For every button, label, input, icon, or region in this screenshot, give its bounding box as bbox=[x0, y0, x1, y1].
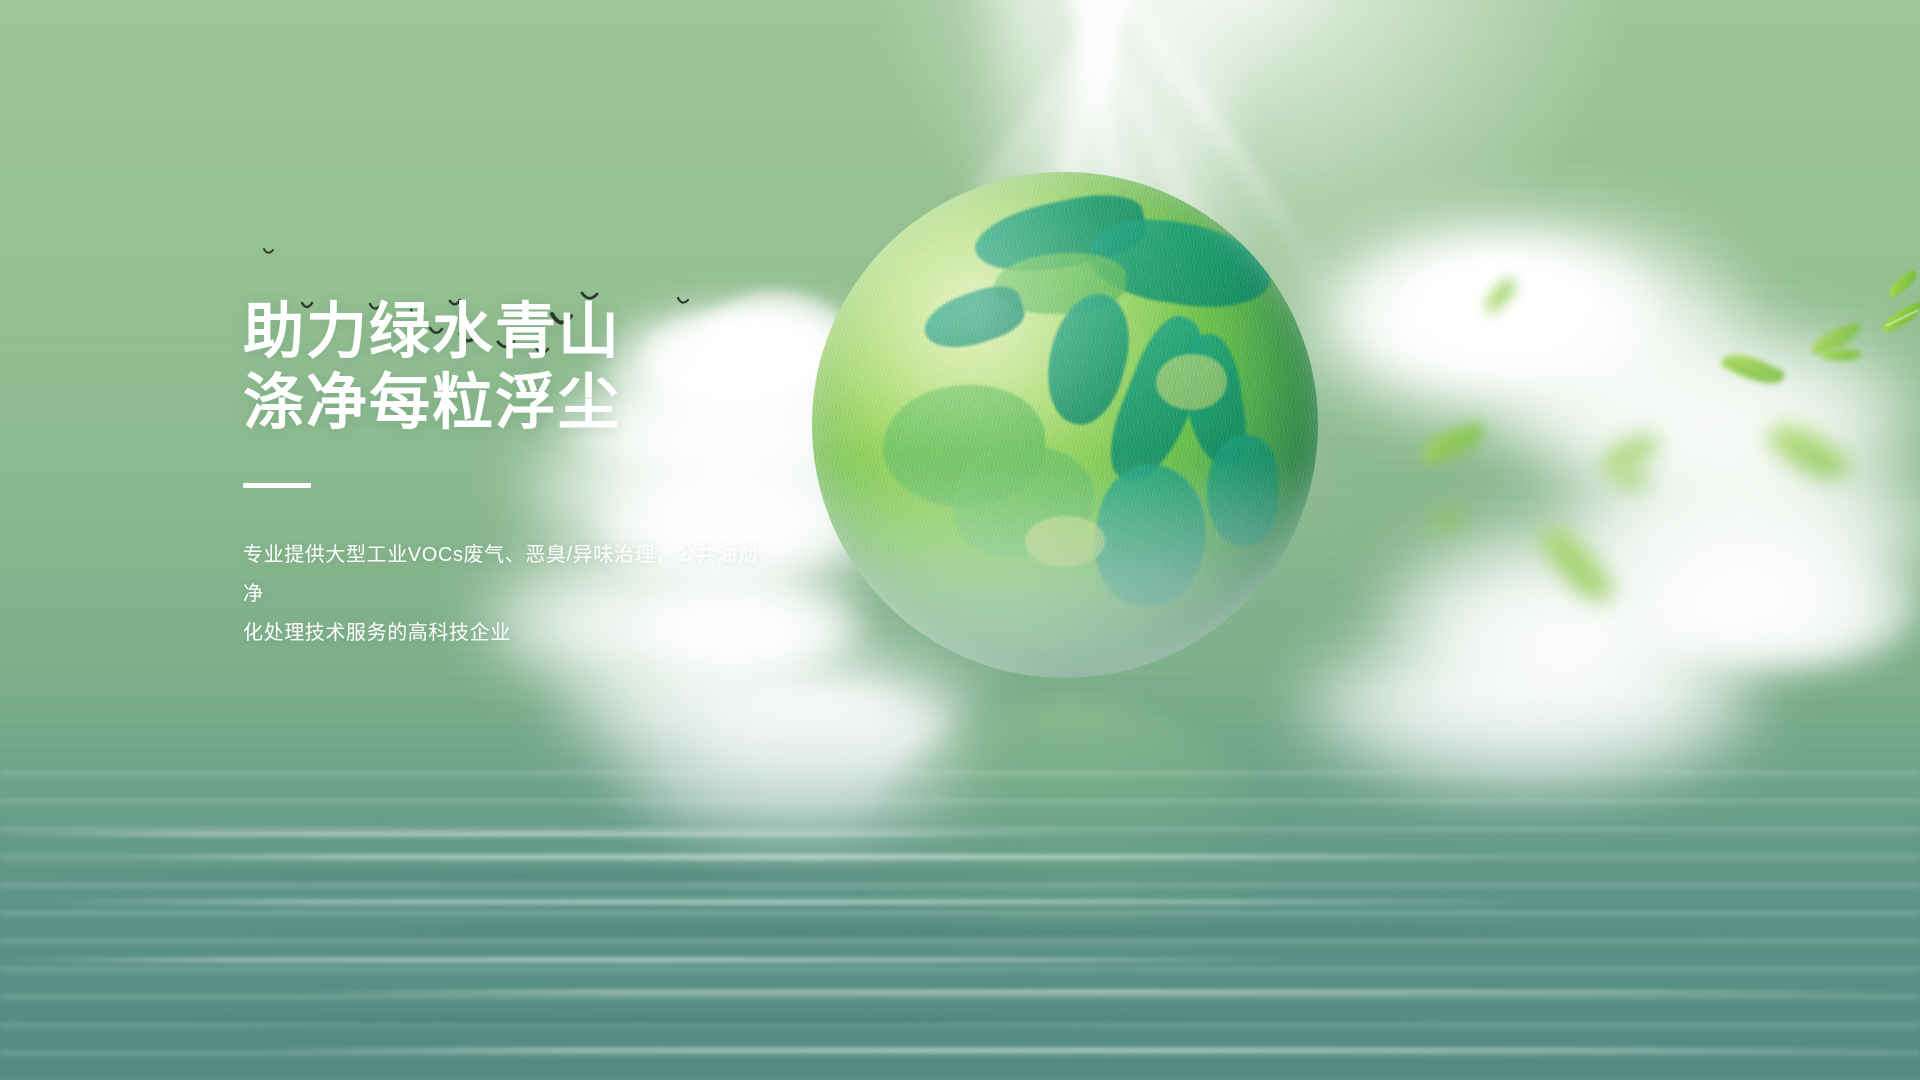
hero-subtitle: 专业提供大型工业VOCs废气、恶臭/异味治理，公共油烟净 化处理技术服务的高科技… bbox=[243, 536, 773, 653]
water-ripple bbox=[40, 900, 1540, 904]
water-ripples-texture bbox=[0, 760, 1920, 1080]
earth-globe bbox=[812, 172, 1318, 678]
water-ripple bbox=[260, 1048, 1920, 1052]
subtitle-line-2: 化处理技术服务的高科技企业 bbox=[243, 614, 773, 653]
water-ripple bbox=[0, 872, 1250, 879]
water-ripple bbox=[0, 832, 1100, 836]
globe-sphere bbox=[812, 172, 1318, 678]
headline-line-2: 涤净每粒浮尘 bbox=[243, 367, 863, 438]
subtitle-line-1: 专业提供大型工业VOCs废气、恶臭/异味治理，公共油烟净 bbox=[243, 536, 773, 614]
banner-hero: 助力绿水青山 涤净每粒浮尘 专业提供大型工业VOCs废气、恶臭/异味治理，公共油… bbox=[0, 0, 1920, 1080]
water-ripple bbox=[120, 855, 1520, 859]
water-ripple bbox=[200, 928, 1800, 935]
water-ripple bbox=[300, 990, 1920, 994]
water-ripple bbox=[0, 1018, 1450, 1025]
headline-line-1: 助力绿水青山 bbox=[243, 296, 863, 367]
bird-icon bbox=[262, 247, 284, 261]
title-divider bbox=[243, 483, 311, 488]
water-ripple bbox=[0, 958, 1300, 962]
hero-copy: 助力绿水青山 涤净每粒浮尘 专业提供大型工业VOCs废气、恶臭/异味治理，公共油… bbox=[243, 296, 863, 653]
page-title: 助力绿水青山 涤净每粒浮尘 bbox=[243, 296, 863, 439]
globe-grass-texture bbox=[812, 172, 1318, 678]
